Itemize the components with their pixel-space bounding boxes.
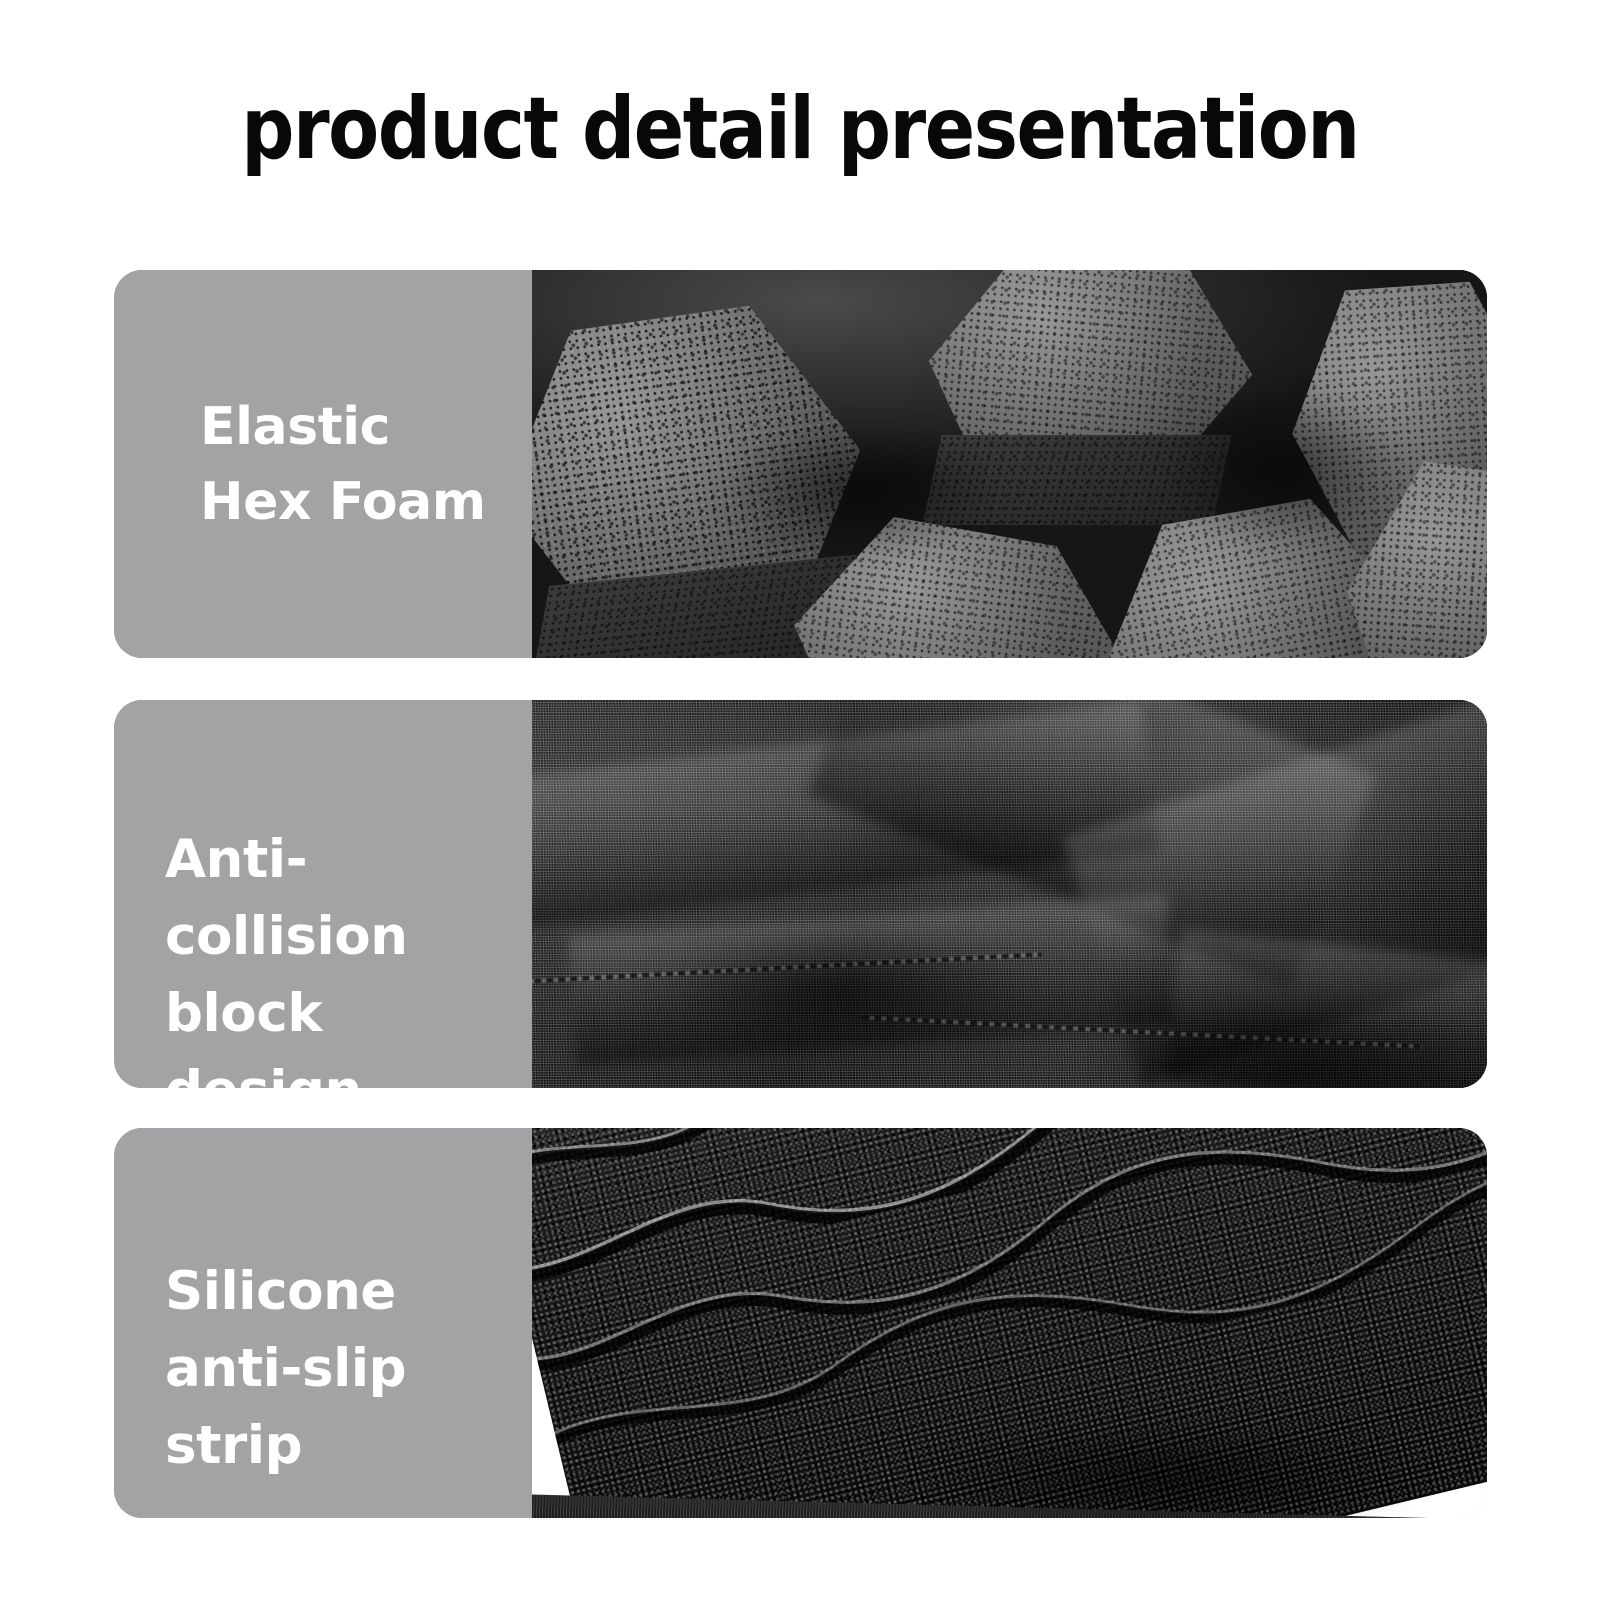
- silicone-strip-photo: [532, 1128, 1487, 1518]
- fabric-shadow: [652, 930, 1032, 1050]
- feature-image-silicone-anti-slip-strip: [532, 1128, 1487, 1518]
- label-panel: Anti-collision block design: [114, 700, 532, 1088]
- feature-card-elastic-hex-foam[interactable]: Elastic Hex Foam: [114, 270, 1487, 658]
- feature-image-elastic-hex-foam: [532, 270, 1487, 658]
- label-panel: Silicone anti-slip strip: [114, 1128, 532, 1518]
- feature-card-list: Elastic Hex Foam: [114, 270, 1487, 1518]
- woven-fabric-photo: [532, 700, 1487, 1088]
- feature-card-anti-collision-block-design[interactable]: Anti-collision block design: [114, 700, 1487, 1088]
- foam-shadow: [712, 420, 1012, 560]
- hex-foam-photo: [532, 270, 1487, 658]
- feature-label-elastic-hex-foam: Elastic Hex Foam: [200, 390, 486, 541]
- strap-shadow: [912, 1418, 1432, 1518]
- foam-shadow: [1152, 390, 1412, 550]
- feature-image-anti-collision-block-design: [532, 700, 1487, 1088]
- label-panel: Elastic Hex Foam: [114, 270, 532, 658]
- feature-label-silicone-anti-slip-strip: Silicone anti-slip strip: [165, 1254, 532, 1485]
- feature-label-anti-collision-block-design: Anti-collision block design: [165, 822, 532, 1088]
- fabric-shadow: [1092, 1000, 1487, 1088]
- feature-card-silicone-anti-slip-strip[interactable]: Silicone anti-slip strip: [114, 1128, 1487, 1518]
- page-title: product detail presentation: [32, 86, 1568, 172]
